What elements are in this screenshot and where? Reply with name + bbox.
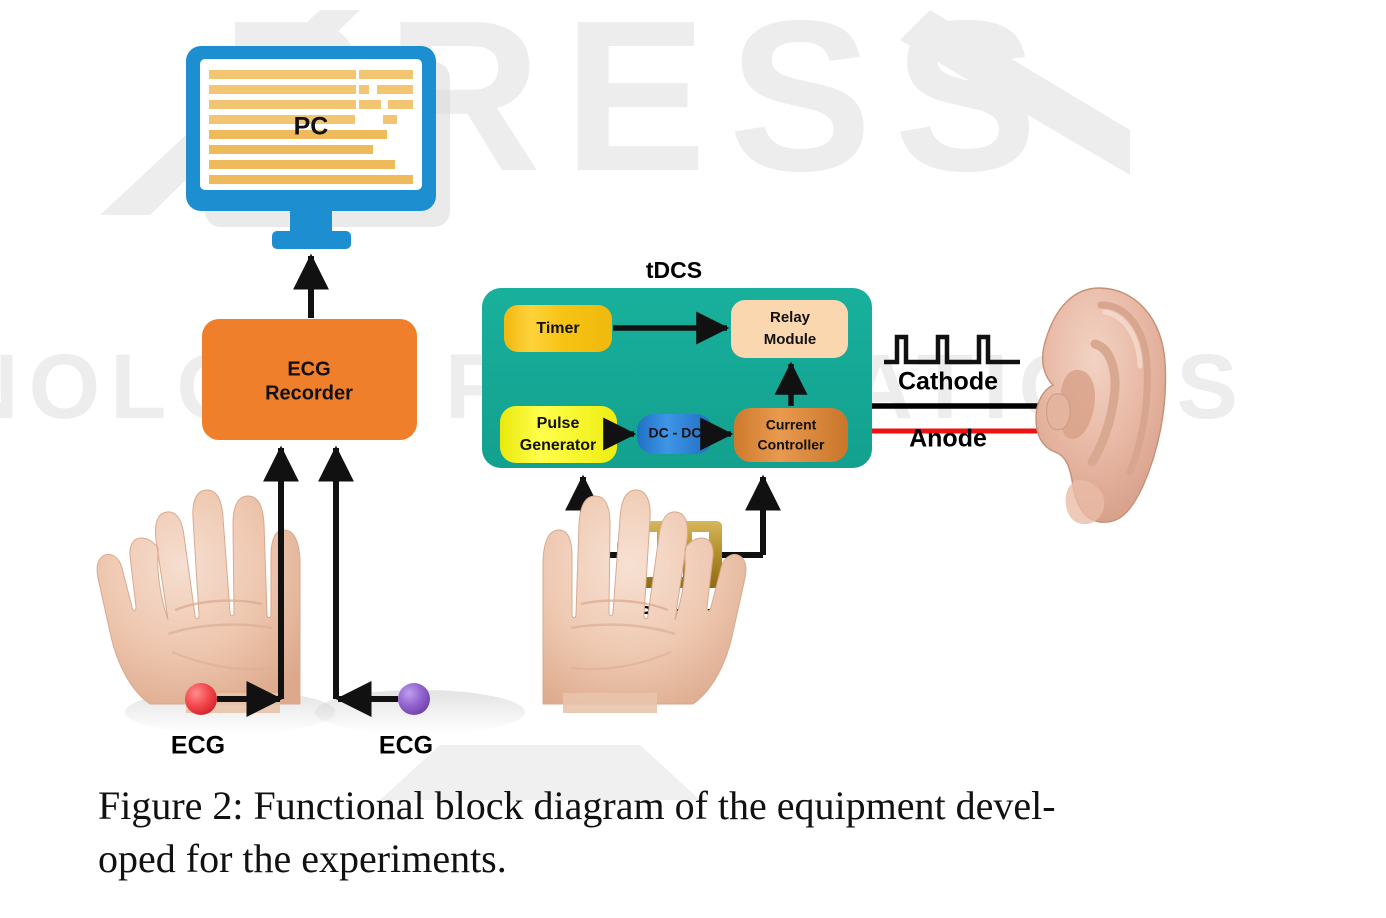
tdcs-block-pulse-generator: Pulse Generator	[500, 406, 617, 463]
right-ecg-label: ECG	[379, 732, 433, 760]
left-hand-silhouette	[97, 490, 300, 704]
cathode-label: Cathode	[898, 368, 998, 396]
ecg-recorder-label-line1: ECG	[287, 358, 330, 380]
left-hand-group: ECG	[97, 490, 335, 760]
ecg-recorder-block: ECG Recorder	[202, 319, 417, 440]
ear-illustration	[1036, 288, 1166, 524]
left-ecg-label: ECG	[171, 732, 225, 760]
dc-dc-label: DC - DC	[649, 425, 702, 441]
tdcs-block-timer: Timer	[504, 305, 612, 352]
pulse-waveform-icon	[884, 337, 1020, 362]
tdcs-block-relay-module: Relay Module	[731, 300, 848, 358]
figure-container: PRESS NOLOGY PUBLICATIONS	[0, 0, 1386, 918]
relay-module-label-line1: Relay	[770, 309, 811, 326]
tdcs-title: tDCS	[646, 257, 702, 283]
right-hand-group: ECG	[315, 490, 746, 760]
tdcs-block-dc-dc: DC - DC	[637, 414, 713, 454]
pc-monitor: PC	[186, 46, 450, 249]
pulse-waveform-path	[884, 337, 1020, 362]
figure-caption: Figure 2: Functional block diagram of th…	[98, 779, 1258, 885]
timer-label: Timer	[536, 320, 579, 337]
figure-caption-line-2: oped for the experiments.	[98, 832, 1258, 885]
right-ecg-electrode	[398, 683, 430, 715]
left-ecg-electrode	[185, 683, 217, 715]
pulse-generator-label-line1: Pulse	[537, 415, 580, 432]
pc-label: PC	[294, 113, 329, 141]
right-hand-wrist	[563, 693, 657, 713]
figure-caption-line-1: Figure 2: Functional block diagram of th…	[98, 779, 1258, 832]
ecg-recorder-label-line2: Recorder	[265, 382, 353, 404]
pc-stand-base	[272, 231, 351, 249]
pulse-generator-label-line2: Generator	[520, 437, 596, 454]
tdcs-panel: Timer Relay Module Pulse Generator DC	[482, 288, 872, 468]
left-hand	[97, 490, 300, 713]
ear-tragus	[1047, 394, 1071, 430]
tdcs-block-current-controller: Current Controller	[734, 408, 848, 462]
anode-label: Anode	[909, 425, 987, 453]
current-controller-label-line1: Current	[766, 417, 817, 433]
relay-module-label-line2: Module	[764, 331, 817, 348]
current-controller-label-line2: Controller	[758, 437, 825, 453]
